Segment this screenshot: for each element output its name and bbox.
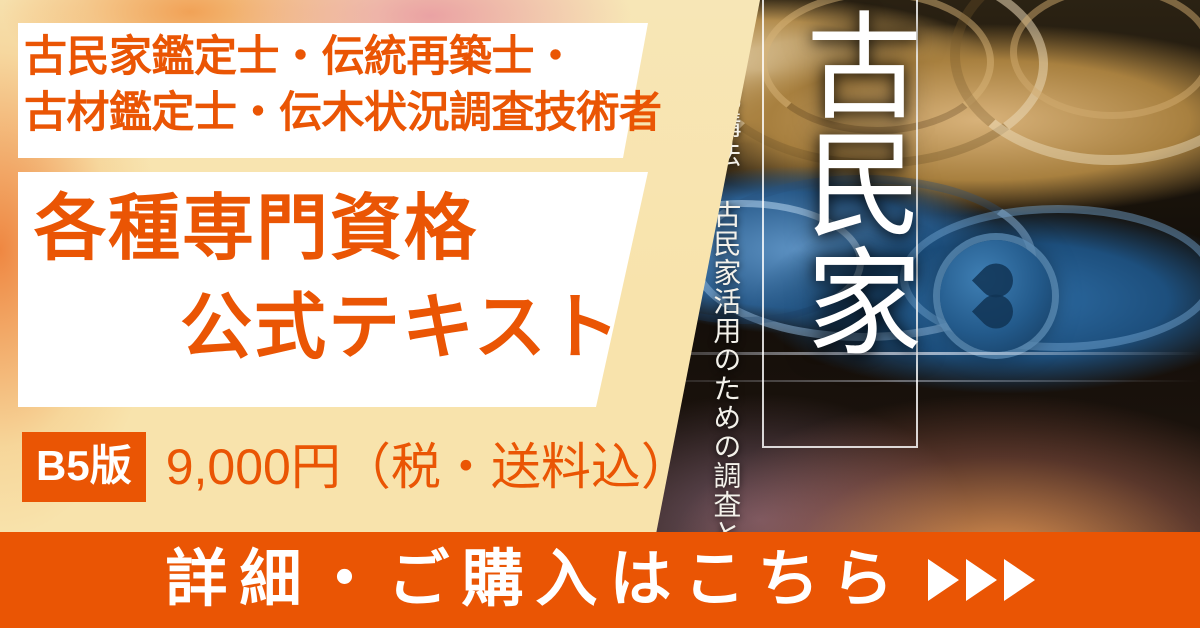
cta-arrows (928, 559, 1035, 601)
qualification-line-1: 古民家鑑定士・伝統再築士・ (20, 30, 720, 86)
format-badge: B5版 (22, 432, 146, 502)
family-crest-medallion-icon (940, 240, 1052, 352)
cta-bar[interactable]: 詳細・ご購入はこちら (0, 532, 1200, 628)
price-text: 9,000円（税・送料込） (166, 442, 691, 492)
headline: 各種専門資格 公式テキスト (20, 180, 720, 377)
carved-scroll-ridge (1010, 0, 1200, 119)
triangle-right-icon (928, 559, 959, 601)
promo-banner: 古民家 伝統構法 古民家活用のための調査と再生の 古民家鑑定士・伝統再築士・ 古… (0, 0, 1200, 628)
headline-line-1: 各種専門資格 (20, 180, 720, 279)
triangle-right-icon (966, 559, 997, 601)
price-row: B5版 9,000円（税・送料込） (22, 432, 691, 502)
headline-line-2: 公式テキスト (20, 279, 720, 378)
cta-label: 詳細・ご購入はこちら (165, 549, 905, 611)
book-cover-title: 古民家 (786, 6, 918, 360)
triangle-right-icon (1004, 559, 1035, 601)
qualification-line-2: 古材鑑定士・伝木状況調査技術者 (20, 86, 720, 142)
carved-scroll-ridge (950, 0, 1200, 165)
qualifications-text: 古民家鑑定士・伝統再築士・ 古材鑑定士・伝木状況調査技術者 (20, 30, 720, 142)
